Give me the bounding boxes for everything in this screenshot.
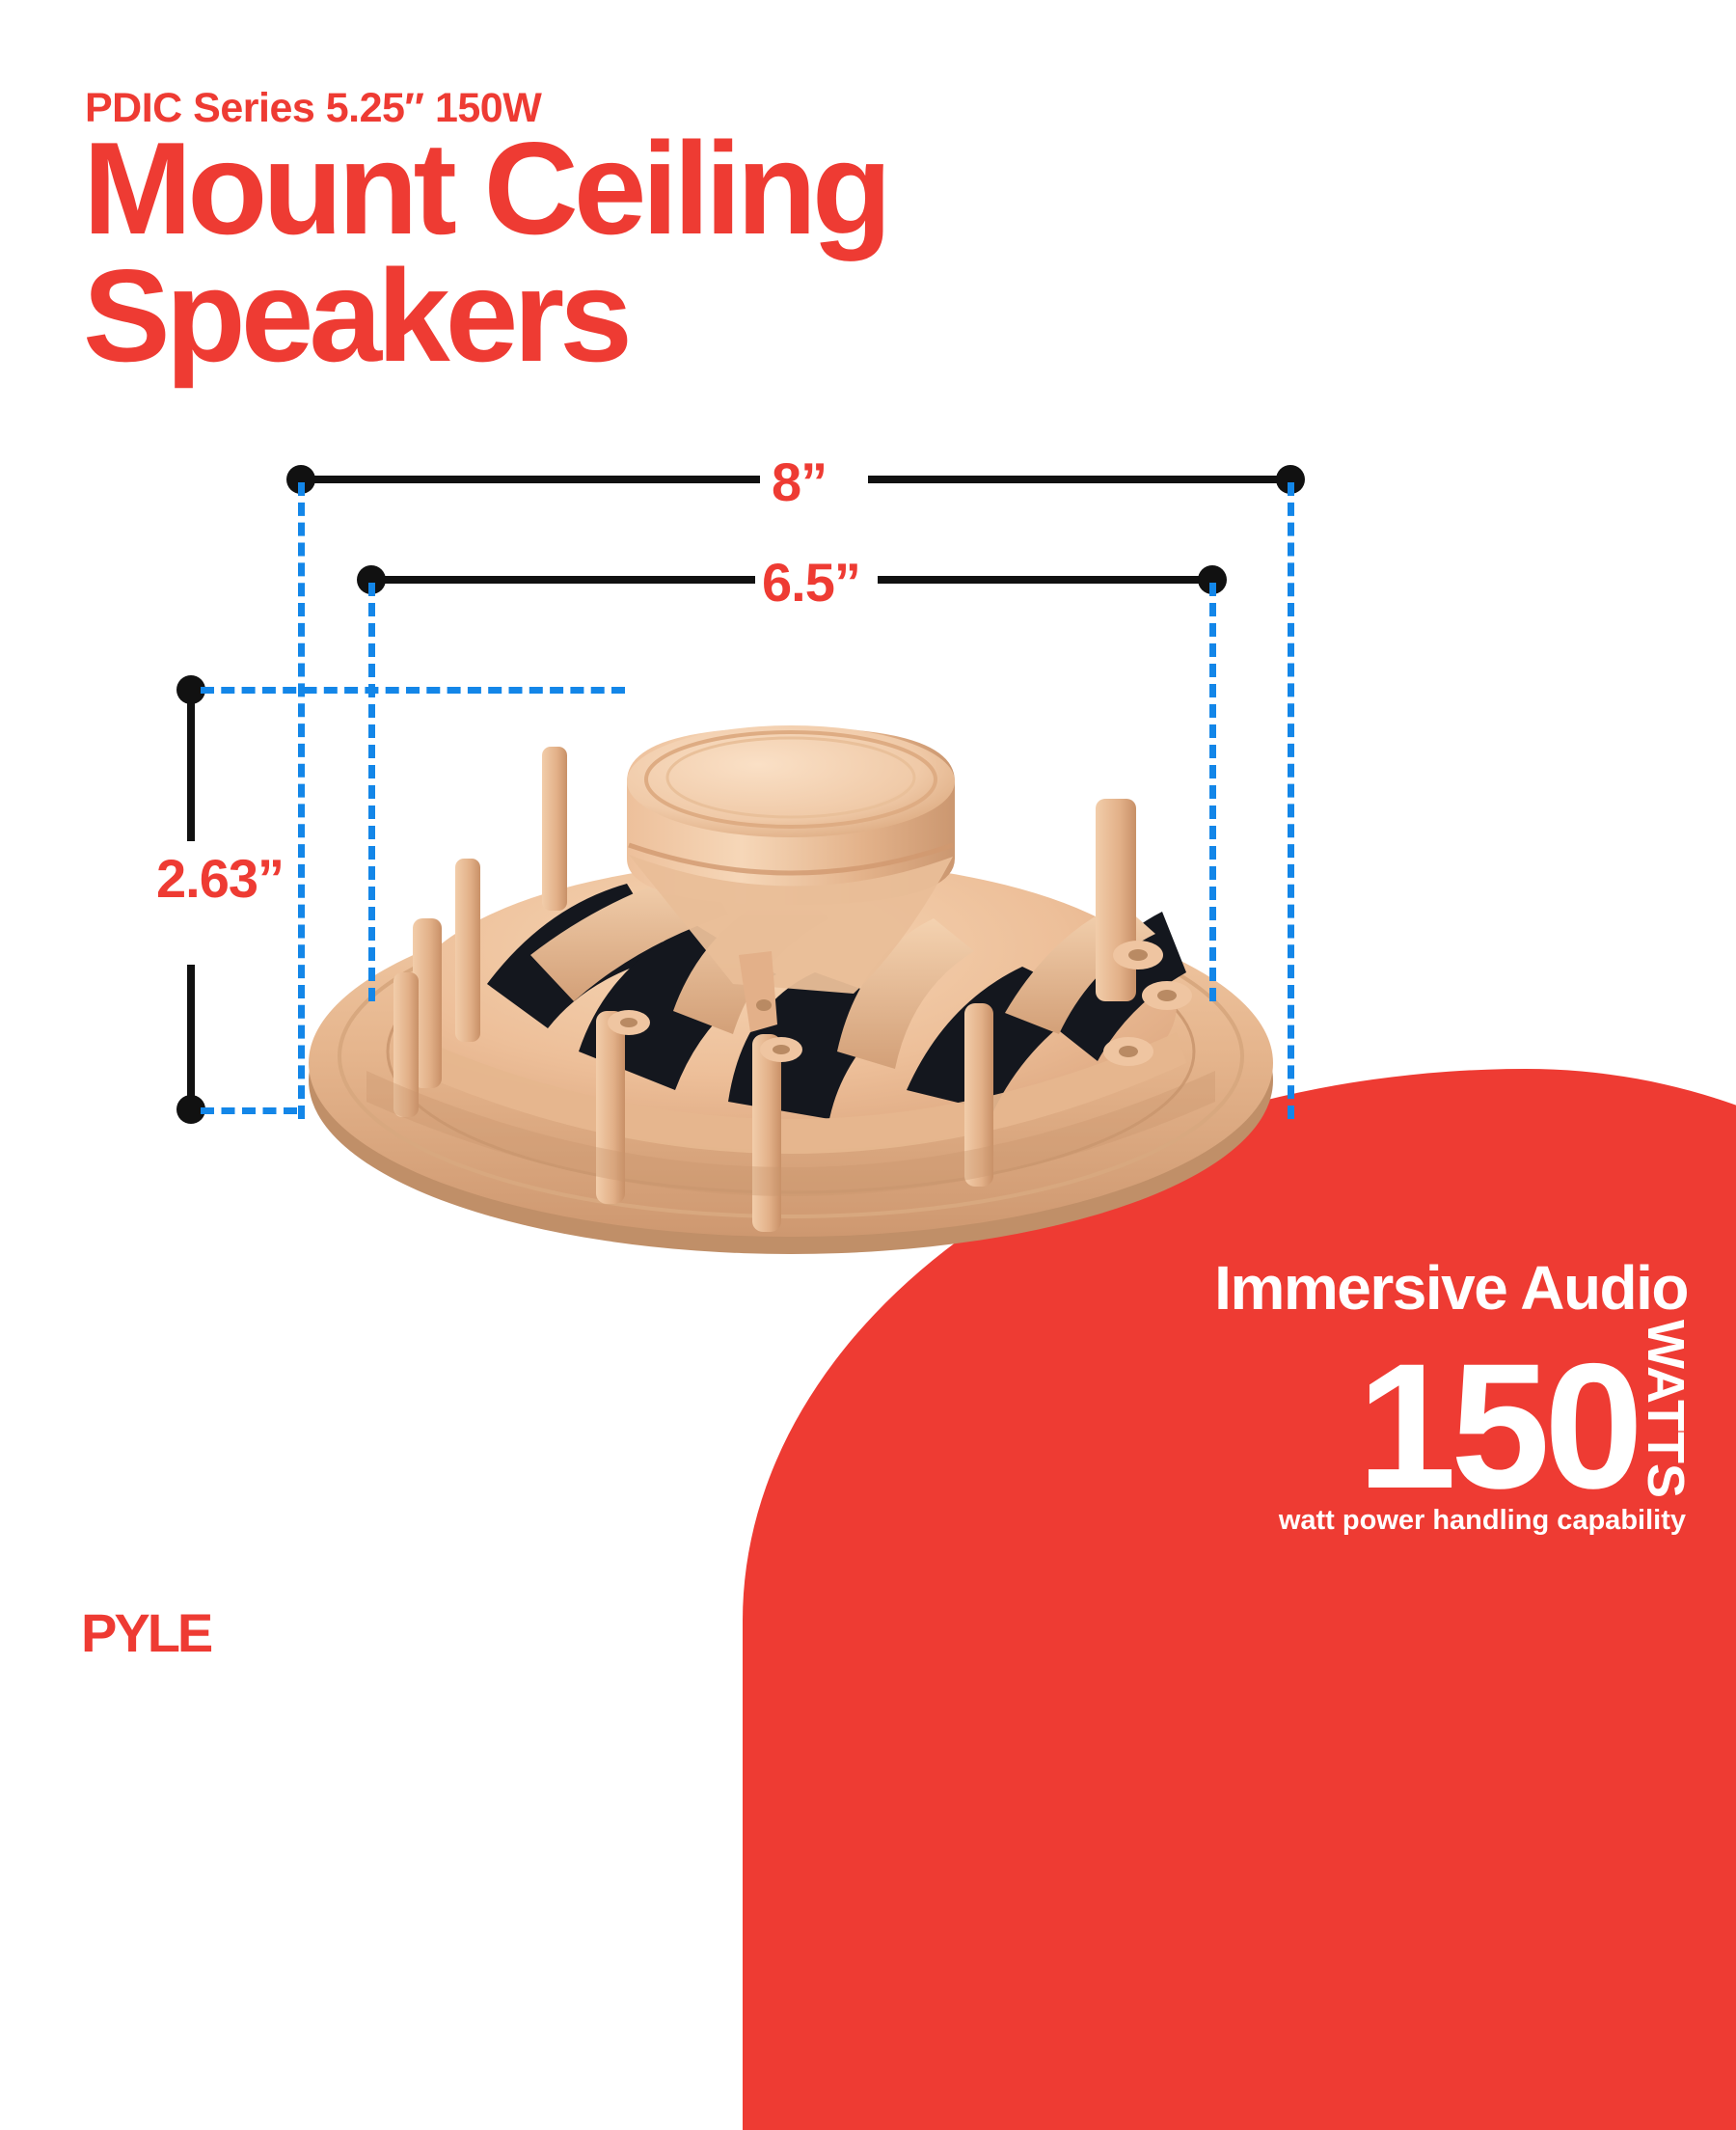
promo-subtext: watt power handling capability <box>1279 1505 1686 1537</box>
dim-guide-outer-left <box>298 482 305 1119</box>
dim-line-width-outer-left <box>299 476 760 483</box>
dim-label-width-outer: 8” <box>772 451 827 513</box>
promo-watts-unit: WATTS <box>1640 1320 1692 1498</box>
dim-guide-cutout-right <box>1209 583 1216 1001</box>
dim-line-width-outer-right <box>868 476 1290 483</box>
dim-label-width-cutout: 6.5” <box>762 551 860 614</box>
dim-label-depth: 2.63” <box>156 847 284 910</box>
dim-guide-cutout-left <box>368 583 375 1001</box>
brand-logo: PYLE <box>81 1601 210 1664</box>
dim-line-width-cutout-right <box>878 576 1204 584</box>
dim-line-depth-top <box>187 687 195 841</box>
dim-guide-depth-top <box>201 687 625 694</box>
dim-guide-outer-right <box>1288 482 1294 1119</box>
dim-guide-depth-bottom <box>201 1107 297 1114</box>
dim-line-width-cutout-left <box>369 576 755 584</box>
promo-watts-row: 150 WATTS <box>1357 1320 1692 1504</box>
infographic-canvas: PDIC Series 5.25″ 150W Mount Ceiling Spe… <box>0 0 1736 1736</box>
promo-headline: Immersive Audio <box>1214 1252 1688 1324</box>
promo-watts-value: 150 <box>1357 1351 1638 1504</box>
dim-line-depth-bottom <box>187 965 195 1115</box>
